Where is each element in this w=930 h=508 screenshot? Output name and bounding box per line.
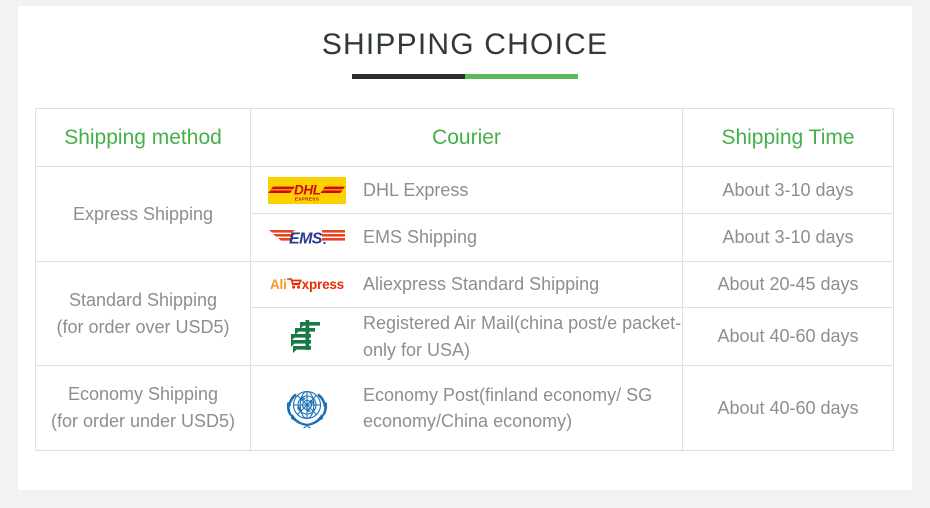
table-row: Economy Shipping (for order under USD5) [36, 366, 894, 451]
method-note: (for order under USD5) [36, 408, 250, 435]
svg-text:DHL: DHL [294, 182, 321, 197]
aliexpress-ali-text: Ali [270, 277, 287, 292]
courier-cell-aliexpress: Ali xpress [251, 262, 683, 308]
column-header-courier: Courier [251, 109, 683, 167]
time-cell: About 40-60 days [683, 366, 894, 451]
shopping-cart-icon [287, 277, 302, 293]
aliexpress-wordmark: Ali xpress [270, 277, 344, 293]
courier-name: Economy Post(finland economy/ SG economy… [363, 382, 682, 434]
courier-name: Registered Air Mail(china post/e packet-… [363, 310, 682, 362]
courier-cell-china-post: Registered Air Mail(china post/e packet-… [251, 308, 683, 366]
method-label: Standard Shipping [36, 287, 250, 314]
table-row: Express Shipping DHL [36, 167, 894, 214]
title-underline [352, 74, 578, 79]
courier-name: Aliexpress Standard Shipping [363, 271, 599, 297]
china-post-logo-svg [286, 316, 328, 358]
svg-text:EXPRESS: EXPRESS [295, 196, 320, 201]
svg-text:EMS: EMS [289, 230, 323, 247]
title-underline-green [465, 74, 578, 79]
time-cell: About 3-10 days [683, 214, 894, 262]
method-label: Economy Shipping [36, 381, 250, 408]
ems-logo: EMS [251, 224, 363, 252]
method-cell-express: Express Shipping [36, 167, 251, 262]
courier-name: DHL Express [363, 177, 468, 203]
column-header-method: Shipping method [36, 109, 251, 167]
aliexpress-xpress-text: xpress [302, 277, 344, 292]
united-nations-logo-svg [280, 381, 334, 435]
title-underline-dark [352, 74, 465, 79]
page-title: SHIPPING CHOICE [18, 28, 912, 61]
courier-cell-dhl: DHL EXPRESS DHL Express [251, 167, 683, 214]
ems-logo-svg: EMS [267, 224, 347, 252]
table-header: Shipping method Courier Shipping Time [36, 109, 894, 167]
shipping-card: SHIPPING CHOICE Shipping method Courier … [18, 6, 912, 490]
dhl-logo: DHL EXPRESS [251, 177, 363, 204]
courier-cell-ems: EMS EMS Shipping [251, 214, 683, 262]
time-cell: About 40-60 days [683, 308, 894, 366]
method-cell-economy: Economy Shipping (for order under USD5) [36, 366, 251, 451]
method-cell-standard: Standard Shipping (for order over USD5) [36, 262, 251, 366]
method-label: Express Shipping [36, 201, 250, 228]
united-nations-logo [251, 381, 363, 435]
courier-cell-economy-post: Economy Post(finland economy/ SG economy… [251, 366, 683, 451]
dhl-logo-svg: DHL EXPRESS [268, 177, 346, 204]
time-cell: About 3-10 days [683, 167, 894, 214]
page-root: SHIPPING CHOICE Shipping method Courier … [0, 0, 930, 508]
table-row: Standard Shipping (for order over USD5) … [36, 262, 894, 308]
table-header-row: Shipping method Courier Shipping Time [36, 109, 894, 167]
courier-name: EMS Shipping [363, 224, 477, 250]
column-header-time: Shipping Time [683, 109, 894, 167]
title-block: SHIPPING CHOICE [18, 6, 912, 79]
table-body: Express Shipping DHL [36, 167, 894, 451]
shipping-table: Shipping method Courier Shipping Time Ex… [35, 108, 894, 451]
method-note: (for order over USD5) [36, 314, 250, 341]
china-post-logo [251, 316, 363, 358]
aliexpress-logo: Ali xpress [251, 277, 363, 293]
time-cell: About 20-45 days [683, 262, 894, 308]
